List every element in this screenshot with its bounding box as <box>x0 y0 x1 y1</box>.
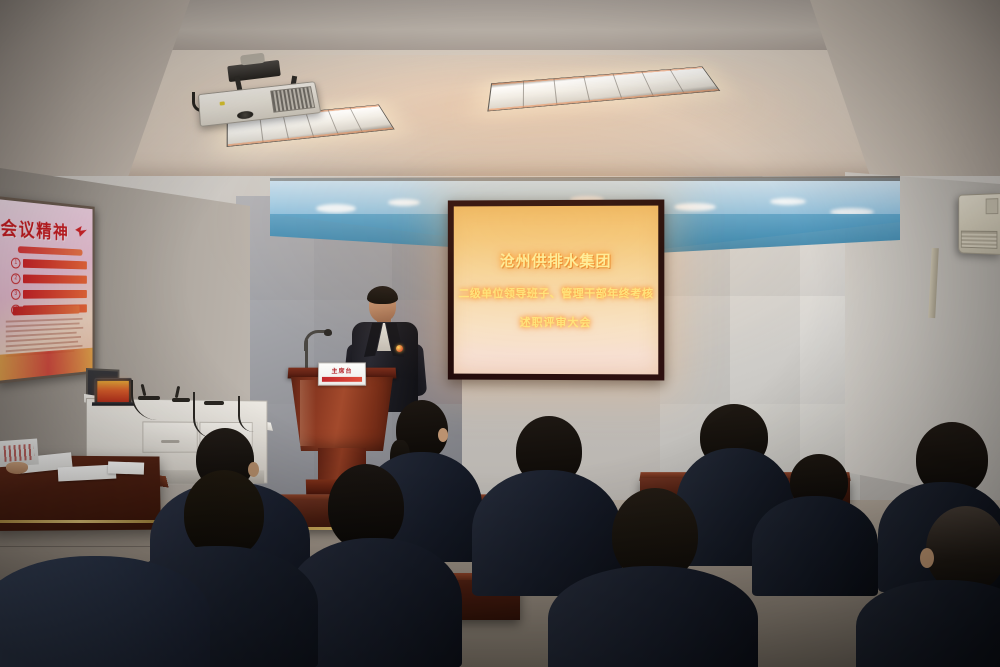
drawer-handle <box>161 440 179 443</box>
presenter-desk-trim <box>0 520 168 523</box>
ac-control-panel <box>986 198 999 214</box>
projection-screen-frame: 沧州供排水集团 二级单位领导班子、管理干部年终考核 述职评审大会 <box>448 200 664 381</box>
conference-room-scene: 沧州供排水集团 二级单位领导班子、管理干部年终考核 述职评审大会 会议精神 1 … <box>0 0 1000 667</box>
attendee-ear <box>438 428 448 442</box>
desk-microphone-2 <box>172 398 190 402</box>
cabinet-drawer[interactable] <box>142 421 197 452</box>
projector-vent <box>270 86 315 113</box>
attendee-ear <box>248 462 259 477</box>
poster-subheading-bar <box>18 246 83 256</box>
attendee-shoulders <box>0 556 210 667</box>
slide-title: 沧州供排水集团 <box>500 250 612 271</box>
meeting-spirit-poster: 会议精神 1 2 3 4 <box>0 196 95 384</box>
air-conditioner <box>958 193 1000 255</box>
booklet-text-lines <box>3 444 34 462</box>
slide-subtitle-line-2: 述职评审大会 <box>520 314 592 330</box>
attendee-hand <box>6 462 28 474</box>
slide-subtitle-line-1: 二级单位领导班子、管理干部年终考核 <box>458 285 653 301</box>
poster-list-item: 2 <box>11 273 87 284</box>
poster-item-bar <box>23 290 87 299</box>
podium-microphone-head <box>324 329 332 336</box>
attendee-head <box>184 470 264 558</box>
projector-status-led <box>220 101 225 105</box>
laptop-screen <box>97 381 129 402</box>
document-paper-3 <box>108 461 144 474</box>
podium-nameplate-text: 主席台 <box>319 366 365 375</box>
poster-item-bar <box>23 275 87 284</box>
projector-lens <box>237 110 254 119</box>
presenter-laptop[interactable] <box>94 378 131 405</box>
attendee-shoulders <box>548 566 758 667</box>
poster-item-number: 1 <box>11 258 20 269</box>
poster-item-number: 2 <box>11 273 20 284</box>
poster-heading: 会议精神 <box>0 213 83 244</box>
poster-item-bar <box>23 259 87 269</box>
poster-item-number: 3 <box>11 289 20 300</box>
poster-list-item: 3 <box>11 289 87 300</box>
nameplate-accent-bar <box>322 377 362 382</box>
poster-list-item: 1 <box>11 258 87 271</box>
attendee-shoulders <box>752 496 878 596</box>
laptop-keyboard-base[interactable] <box>92 402 134 405</box>
ac-vent-grille <box>961 231 998 249</box>
podium-highlight <box>300 380 316 446</box>
speaker-hair <box>367 286 398 304</box>
podium-nameplate: 主席台 <box>318 362 366 385</box>
speaker-lapel-badge <box>396 345 403 352</box>
attendee-ear <box>920 548 934 568</box>
projection-screen-surface: 沧州供排水集团 二级单位领导班子、管理干部年终考核 述职评审大会 <box>454 206 659 375</box>
